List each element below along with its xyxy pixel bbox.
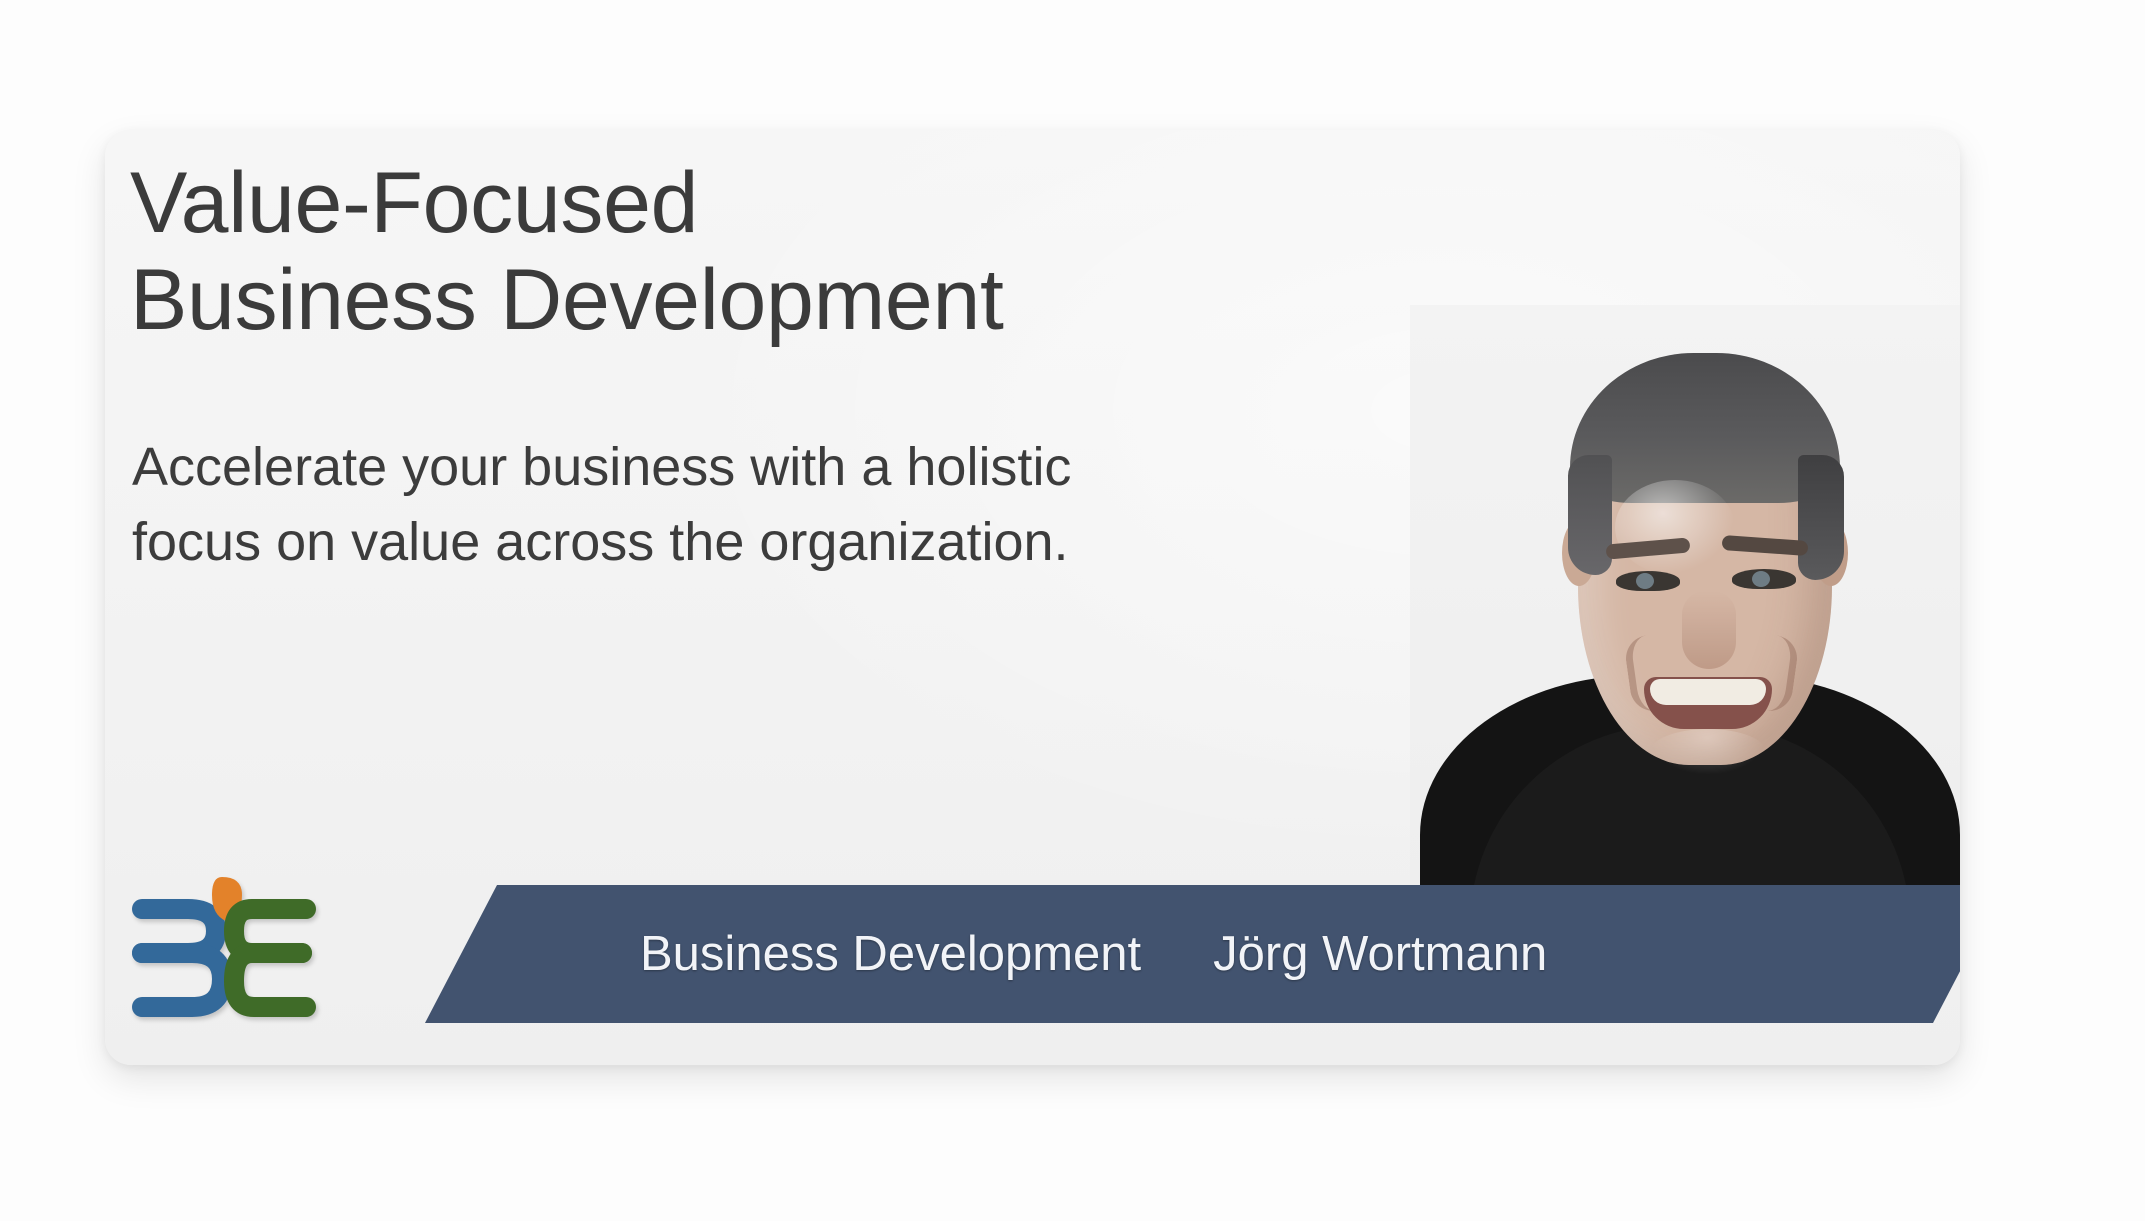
slide-canvas: Value-Focused Business Development Accel… [0, 0, 2145, 1221]
portrait-hair-left [1568, 455, 1612, 575]
page-title: Value-Focused Business Development [130, 155, 1310, 349]
brand-logo [130, 873, 320, 1043]
portrait-chin [1650, 729, 1766, 775]
portrait-iris-right [1752, 571, 1770, 587]
banner-role-label: Business Development [640, 926, 1141, 982]
portrait-teeth [1650, 679, 1766, 705]
portrait-hair-right [1798, 455, 1844, 580]
portrait-forehead-highlight [1615, 480, 1735, 575]
banner-person-name: Jörg Wortmann [1213, 926, 1547, 982]
subtitle-text: Accelerate your business with a holistic… [132, 430, 1092, 579]
portrait-nose [1682, 591, 1736, 669]
presentation-card: Value-Focused Business Development Accel… [105, 130, 1960, 1065]
portrait-mouth [1644, 677, 1772, 729]
portrait-photo [1410, 305, 1960, 925]
portrait-iris-left [1636, 573, 1654, 589]
footer-banner: Business Development Jörg Wortmann [425, 885, 1960, 1023]
